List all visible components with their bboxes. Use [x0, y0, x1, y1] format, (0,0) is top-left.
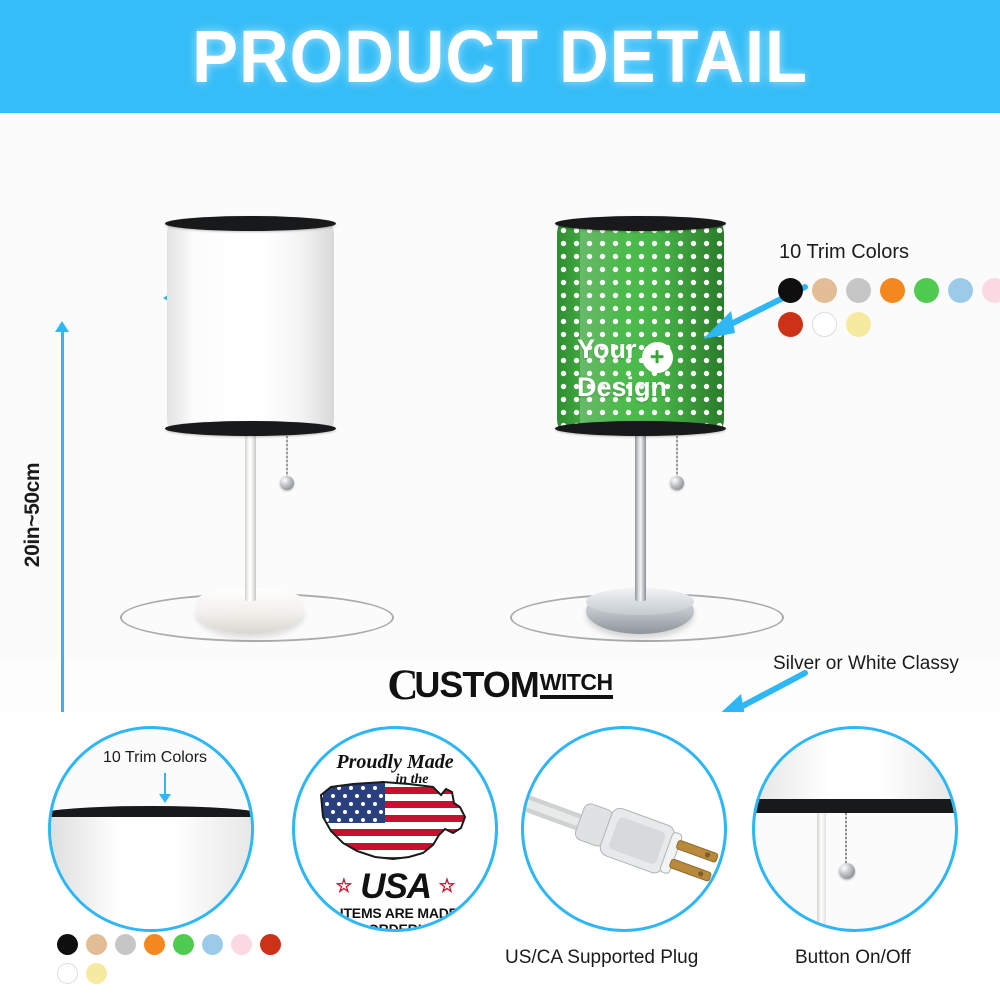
trim-swatch-pink[interactable]: [982, 278, 1000, 303]
logo-name: USTOM: [414, 667, 538, 703]
trim-swatch-gray[interactable]: [115, 934, 136, 955]
logo-suffix: WITCH: [540, 671, 613, 699]
usa-flag-map-icon: [313, 773, 477, 865]
trim-swatch-white[interactable]: [812, 312, 837, 337]
page-title: PRODUCT DETAIL: [192, 14, 808, 99]
usa-tagline: ALL ITEMS ARE MADE TO ORDER!: [295, 905, 495, 932]
header-banner: PRODUCT DETAIL: [0, 0, 1000, 113]
shade-trim-bottom: [165, 421, 336, 436]
zoom-shade-body: [48, 817, 254, 932]
trim-swatch-orange[interactable]: [880, 278, 905, 303]
star-left-icon: ☆: [335, 876, 351, 897]
plug-caption: US/CA Supported Plug: [505, 947, 698, 969]
shade-surface: [167, 224, 334, 429]
lamp-pole: [635, 433, 646, 601]
add-design-icon[interactable]: +: [642, 342, 673, 373]
trim-swatch-black[interactable]: [778, 278, 803, 303]
trim-swatch-green[interactable]: [914, 278, 939, 303]
pull-chain-ball: [280, 476, 294, 490]
trim-colors-palette-top: [778, 278, 1000, 337]
height-dimension-label: 20in~50cm: [21, 425, 45, 605]
zoom-shade-trim: [752, 799, 958, 813]
shade-trim-bottom: [555, 421, 726, 436]
pull-chain-ball: [670, 476, 684, 490]
power-plug-icon: [524, 729, 724, 929]
feature-strip: 10 Trim Colors Proudly Made in the: [0, 712, 1000, 1000]
lamp-showcase: 7in~18cm 20in~50cm: [0, 113, 1000, 658]
trim-swatch-tan[interactable]: [812, 278, 837, 303]
shade-trim-top: [165, 216, 336, 231]
design-placeholder: Your+ Design: [577, 335, 673, 401]
trim-swatch-red[interactable]: [260, 934, 281, 955]
trim-swatch-light-blue[interactable]: [202, 934, 223, 955]
feature-trim-colors: 10 Trim Colors: [48, 726, 254, 932]
trim-swatch-yellow[interactable]: [86, 963, 107, 984]
zoom-lamp-pole: [817, 813, 826, 929]
usa-script-top: Proudly Made: [336, 751, 453, 773]
arrow-head: [159, 794, 171, 803]
shade-trim-top: [555, 216, 726, 231]
usa-word: USA: [360, 867, 430, 906]
design-line-2: Design: [577, 373, 673, 401]
feature-made-in-usa: Proudly Made in the: [292, 726, 498, 932]
trim-swatch-gray[interactable]: [846, 278, 871, 303]
lamp-pole: [245, 433, 256, 601]
pull-chain: [676, 436, 678, 481]
trim-down-arrow-icon: [159, 773, 171, 803]
trim-swatch-white[interactable]: [57, 963, 78, 984]
design-line-1-row: Your+: [577, 335, 673, 373]
white-lamp: [155, 208, 345, 638]
mini-trim-colors-label: 10 Trim Colors: [103, 749, 207, 767]
arrow-shaft: [164, 773, 166, 795]
trim-swatch-orange[interactable]: [144, 934, 165, 955]
lamp-shade: [167, 224, 334, 429]
trim-swatch-black[interactable]: [57, 934, 78, 955]
trim-swatch-light-blue[interactable]: [948, 278, 973, 303]
trim-swatch-red[interactable]: [778, 312, 803, 337]
product-detail-page: PRODUCT DETAIL 7in~18cm 20in~50cm: [0, 0, 1000, 1000]
star-right-icon: ☆: [439, 876, 455, 897]
trim-colors-heading: 10 Trim Colors: [779, 241, 909, 264]
green-design-lamp: Your+ Design: [545, 208, 735, 638]
trim-swatch-yellow[interactable]: [846, 312, 871, 337]
zoom-shade-body-top: [752, 726, 958, 803]
feature-plug: [521, 726, 727, 932]
pull-chain: [286, 436, 288, 481]
zoom-pull-chain-ball: [839, 863, 855, 879]
trim-swatch-tan[interactable]: [86, 934, 107, 955]
design-line-1: Your: [577, 334, 637, 364]
trim-swatch-pink[interactable]: [231, 934, 252, 955]
trim-swatch-green[interactable]: [173, 934, 194, 955]
zoom-pull-chain: [845, 813, 847, 869]
switch-caption: Button On/Off: [795, 947, 911, 969]
usa-big-text: ☆ USA ☆: [295, 867, 495, 907]
feature-switch: [752, 726, 958, 932]
brand-logo: C USTOM WITCH: [0, 662, 1000, 708]
trim-colors-palette-bottom: [57, 934, 297, 984]
